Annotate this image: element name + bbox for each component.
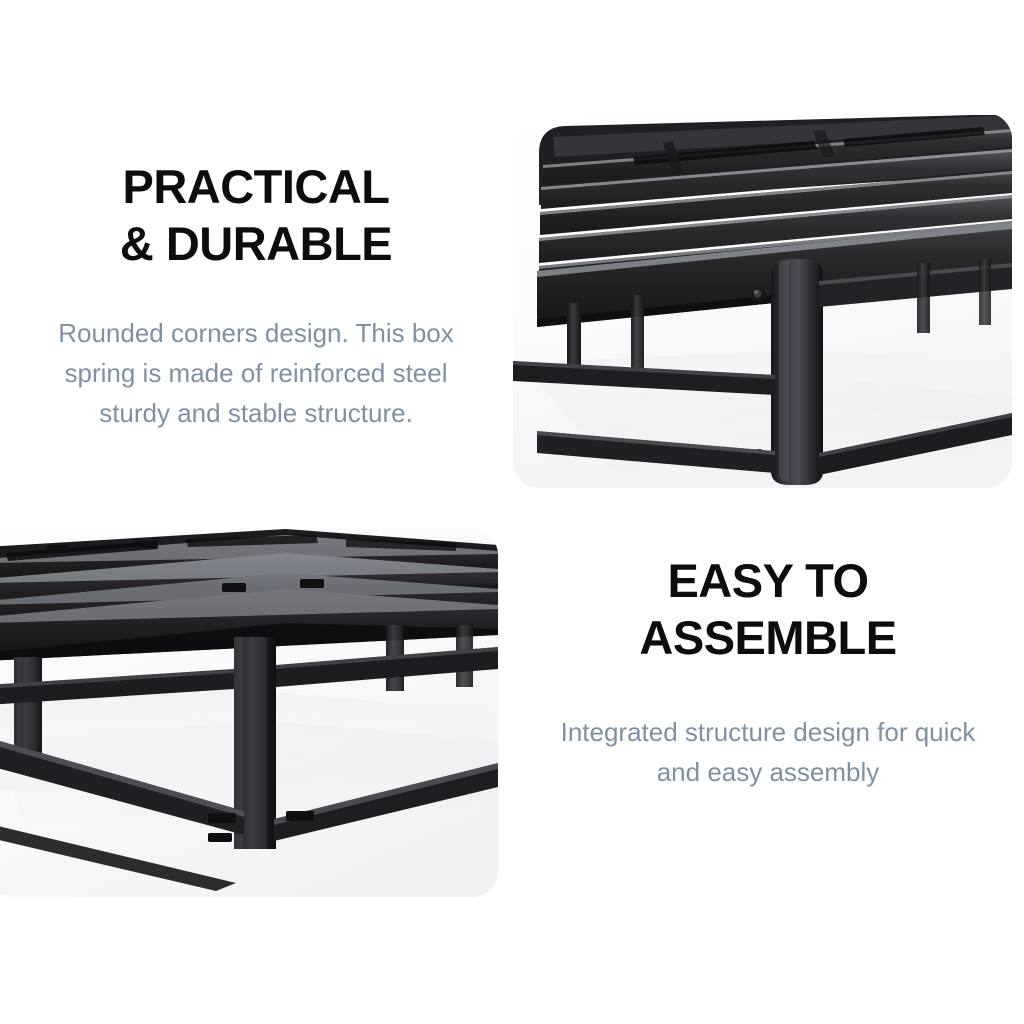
heading-easy-to: EASY TO: [512, 552, 1024, 609]
heading-durable: & DURABLE: [0, 215, 512, 272]
infographic-canvas: PRACTICAL & DURABLE Rounded corners desi…: [0, 0, 1024, 1024]
feature-block-practical-durable: PRACTICAL & DURABLE Rounded corners desi…: [0, 158, 512, 434]
bed-frame-structure-illustration: [0, 529, 498, 897]
body-text-practical-durable: Rounded corners design. This box spring …: [0, 313, 512, 434]
heading-assemble: ASSEMBLE: [512, 609, 1024, 666]
product-photo-corner-detail: [513, 113, 1012, 488]
product-photo-frame-structure: [0, 529, 498, 897]
body-text-easy-to-assemble: Integrated structure design for quick an…: [512, 712, 1024, 793]
feature-block-easy-to-assemble: EASY TO ASSEMBLE Integrated structure de…: [512, 552, 1024, 792]
bed-frame-corner-illustration: [513, 113, 1012, 488]
heading-practical: PRACTICAL: [0, 158, 512, 215]
left-leg: [14, 657, 42, 753]
